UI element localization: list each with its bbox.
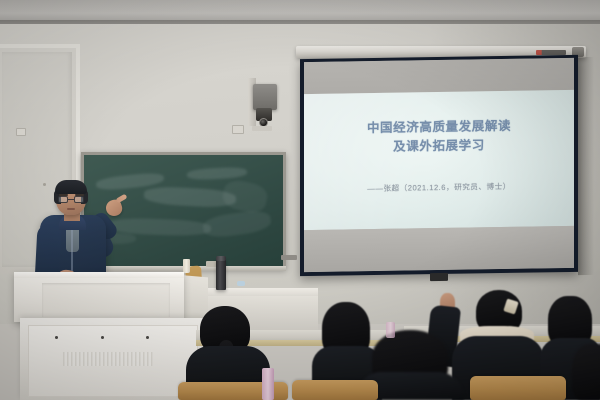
- chalk-smudge: [202, 208, 272, 239]
- wall-mounted-strip: [281, 255, 297, 260]
- camera-base: [252, 126, 272, 131]
- pink-water-bottle: [262, 368, 274, 400]
- wall-socket: [232, 125, 244, 134]
- screen-top-band: [304, 58, 574, 94]
- panel-screw: [55, 336, 58, 339]
- slide-subtitle: ——张超（2021.12.6，研究员、博士）: [367, 181, 511, 194]
- lecturer-knit-cap: [55, 180, 87, 194]
- glasses-icon: [58, 196, 85, 204]
- lectern-inset-panel: [42, 283, 170, 317]
- screen-bottom-band: [304, 226, 574, 272]
- wall-camera-body: [253, 84, 277, 110]
- panel-screw: [101, 336, 104, 339]
- student-hair: [572, 344, 600, 400]
- lecturer-mouth: [67, 208, 75, 210]
- glasses-lens-left: [58, 196, 68, 203]
- lectern-top-edge: [14, 272, 184, 278]
- chalk-smudge: [187, 167, 247, 181]
- wall-mark: [43, 183, 46, 186]
- screen-drop-shadow: [578, 57, 594, 275]
- classroom-photo: 中国经济高质量发展解读 及课外拓展学习 ——张超（2021.12.6，研究员、博…: [0, 0, 600, 400]
- panel-screw: [146, 336, 149, 339]
- projected-slide: 中国经济高质量发展解读 及课外拓展学习 ——张超（2021.12.6，研究员、博…: [304, 90, 574, 230]
- small-bottle: [386, 322, 395, 338]
- screen-surface: 中国经济高质量发展解读 及课外拓展学习 ——张超（2021.12.6，研究员、博…: [304, 58, 574, 272]
- small-blue-object: [237, 281, 245, 286]
- lectern-vent-grille: [63, 352, 153, 366]
- vacuum-flask-cap: [216, 256, 226, 261]
- student-chair: [292, 380, 378, 400]
- student-chair: [470, 376, 566, 400]
- screen-bottom-weight-clip: [430, 273, 448, 281]
- vacuum-flask: [216, 258, 226, 290]
- glasses-lens-right: [74, 196, 84, 203]
- light-switch-plate: [16, 128, 26, 136]
- projection-screen: 中国经济高质量发展解读 及课外拓展学习 ——张超（2021.12.6，研究员、博…: [300, 55, 578, 276]
- slide-title-line-2: 及课外拓展学习: [393, 136, 485, 156]
- slide-title-line-1: 中国经济高质量发展解读: [367, 117, 511, 138]
- slide-text-block: 中国经济高质量发展解读 及课外拓展学习 ——张超（2021.12.6，研究员、博…: [304, 90, 574, 230]
- chalk-smudge: [221, 177, 270, 214]
- glasses-bridge: [68, 199, 74, 200]
- paper-cup: [183, 259, 190, 273]
